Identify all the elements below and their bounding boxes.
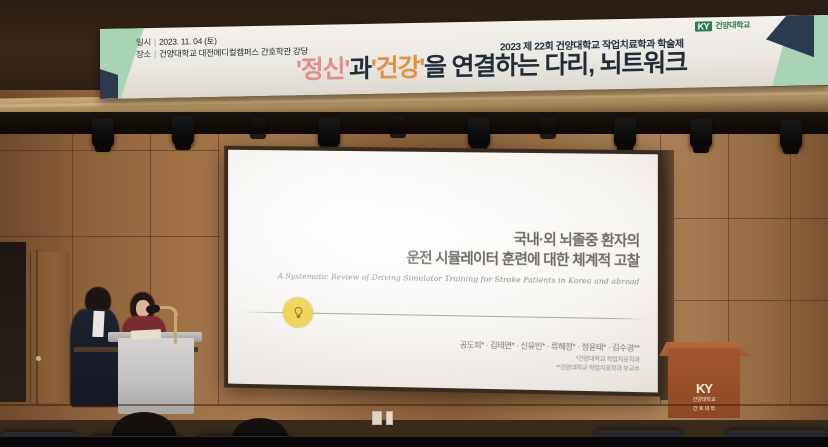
event-banner: 일시|2023. 11. 04 (토) 장소|건양대학교 대전메디컬캠퍼스 간호… [100, 15, 828, 99]
banner-separator: | [151, 37, 159, 47]
banner-headline: '정신'과'건강'을 연결하는 다리, 뇌트워크 [296, 51, 687, 84]
projection-screen: 국내·외 뇌졸중 환자의 운전 시뮬레이터 훈련에 대한 체계적 고찰 A Sy… [228, 150, 658, 393]
podium-logo-line2: 간 호 대 학 [668, 406, 740, 413]
banner-university-logo: KY 건양대학교 [695, 20, 750, 32]
banner-headline-part2: 과 [349, 55, 371, 83]
wall-seam [660, 300, 828, 301]
stage-spotlight [468, 118, 490, 148]
stage-spotlight [540, 117, 556, 135]
banner-headline-part4: 을 연결하는 다리, 뇌트워크 [424, 49, 687, 82]
projection-screen-frame: 국내·외 뇌졸중 환자의 운전 시뮬레이터 훈련에 대한 체계적 고찰 A Sy… [224, 146, 662, 397]
presentation-slide: 국내·외 뇌졸중 환자의 운전 시뮬레이터 훈련에 대한 체계적 고찰 A Sy… [228, 150, 658, 393]
stage-spotlight [780, 120, 802, 150]
podium-logo-line1: 건양대학교 [668, 397, 740, 404]
banner-separator: | [151, 49, 159, 59]
stage-spotlight [390, 116, 406, 134]
podium-ky-mark: KY [668, 382, 740, 395]
wall-control-panel [372, 411, 382, 425]
banner-date-value: 2023. 11. 04 (토) [159, 36, 217, 47]
lectern-papers [131, 329, 161, 340]
presenter-male-shirt [92, 311, 104, 338]
door-knob [36, 356, 41, 361]
stage-spotlight [250, 117, 266, 135]
presentation-hall-photo: 일시|2023. 11. 04 (토) 장소|건양대학교 대전메디컬캠퍼스 간호… [0, 0, 828, 447]
slide-title: 국내·외 뇌졸중 환자의 운전 시뮬레이터 훈련에 대한 체계적 고찰 [279, 228, 639, 273]
banner-headline-part1: '정신' [296, 55, 349, 84]
banner-event-details: 일시|2023. 11. 04 (토) 장소|건양대학교 대전메디컬캠퍼스 간호… [136, 33, 308, 61]
lectern [118, 338, 194, 414]
podium-university-logo: KY 건양대학교 간 호 대 학 [668, 382, 740, 413]
banner-place-value: 건양대학교 대전메디컬캠퍼스 간호학관 강당 [159, 46, 308, 59]
left-dark-panel [0, 242, 26, 402]
slide-subtitle-english: A Systematic Review of Driving Simulator… [267, 271, 639, 286]
wainscot-line [0, 404, 828, 406]
stage-spotlight [690, 119, 712, 149]
wall-outlet [386, 411, 393, 425]
ky-logo-mark: KY [695, 21, 713, 31]
wall-seam [0, 236, 220, 237]
wall-seam [790, 134, 791, 405]
stage-spotlight [614, 118, 636, 148]
banner-headline-part3: '건강' [371, 54, 424, 83]
ky-logo-text: 건양대학교 [715, 20, 750, 32]
wall-seam [218, 125, 219, 405]
door-edge [36, 250, 38, 404]
banner-place-label: 장소 [136, 49, 151, 59]
stage-spotlight [318, 118, 340, 148]
foreground-shadow [0, 437, 828, 447]
wall-seam [660, 218, 828, 219]
stage-spotlight [92, 118, 114, 148]
banner-date-label: 일시 [136, 37, 151, 47]
stage-spotlight [172, 116, 194, 146]
lightbulb-icon [283, 297, 313, 327]
